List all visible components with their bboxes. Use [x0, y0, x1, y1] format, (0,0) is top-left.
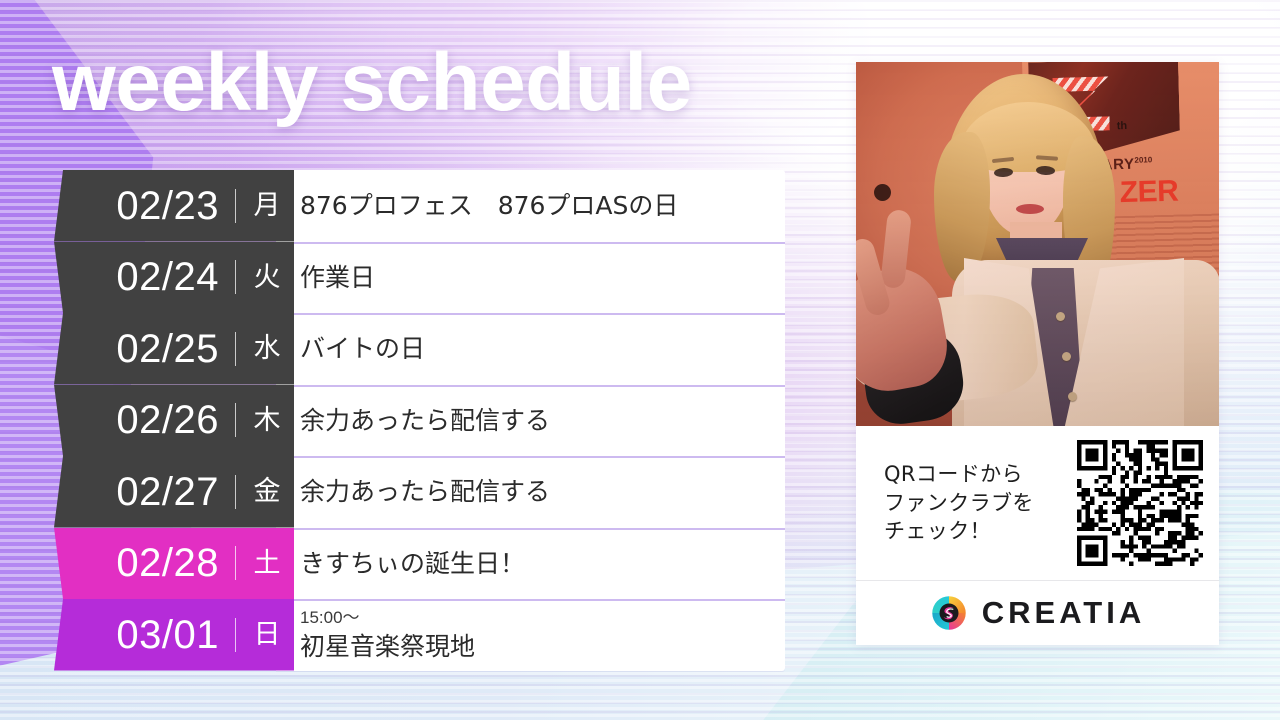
- schedule-row-content: 作業日: [300, 242, 785, 314]
- schedule-row: 02/27金余力あったら配信する: [54, 456, 785, 528]
- cosplay-photo: th NNIVERSARY2010 y sick ZER: [856, 62, 1219, 426]
- schedule-row-content: きすちぃの誕生日！: [300, 528, 785, 600]
- photo-color-tint: [856, 62, 1219, 426]
- brand-block: CREATIA: [856, 581, 1219, 645]
- schedule-date: 02/23: [116, 186, 219, 226]
- qr-promo-line-1: QRコードから: [884, 460, 1077, 489]
- schedule-row-content: バイトの日: [300, 313, 785, 385]
- schedule-row-content: 余力あったら配信する: [300, 456, 785, 528]
- schedule-date-chip: 02/26木: [54, 385, 294, 457]
- schedule-date-chip: 03/01日: [54, 599, 294, 671]
- qr-promo-text: QRコードから ファンクラブを チェック！: [884, 460, 1077, 547]
- qr-promo-line-2: ファンクラブを: [884, 489, 1077, 518]
- schedule-entry-text: 作業日: [300, 262, 785, 293]
- schedule-weekday: 金: [250, 478, 284, 505]
- schedule-row-content: 876プロフェス 876プロASの日: [300, 170, 785, 242]
- schedule-entry-text: 初星音楽祭現地: [300, 631, 785, 662]
- schedule-date-separator: [235, 403, 236, 437]
- schedule-weekday: 木: [250, 407, 284, 434]
- schedule-row: 03/01日15:00〜初星音楽祭現地: [54, 599, 785, 671]
- schedule-entry-text: 876プロフェス 876プロASの日: [300, 190, 785, 221]
- schedule-row: 02/23月876プロフェス 876プロASの日: [54, 170, 785, 242]
- schedule-date-chip: 02/25水: [54, 313, 294, 385]
- qr-promo-line-3: チェック！: [884, 517, 1077, 546]
- creatia-logo-icon: [930, 594, 968, 632]
- schedule-date-chip: 02/24火: [54, 242, 294, 314]
- schedule-date-separator: [235, 475, 236, 509]
- schedule-row-content: 余力あったら配信する: [300, 385, 785, 457]
- schedule-date-separator: [235, 618, 236, 652]
- schedule-weekday: 水: [250, 335, 284, 362]
- schedule-date: 02/25: [116, 329, 219, 369]
- schedule-weekday: 日: [250, 621, 284, 648]
- schedule-date-separator: [235, 260, 236, 294]
- schedule-weekday: 土: [250, 550, 284, 577]
- schedule-date: 02/24: [116, 257, 219, 297]
- schedule-date-chip: 02/23月: [54, 170, 294, 242]
- schedule-date-separator: [235, 546, 236, 580]
- schedule-row: 02/28土きすちぃの誕生日！: [54, 528, 785, 600]
- schedule-entry-text: きすちぃの誕生日！: [300, 548, 785, 579]
- schedule-entry-text: 余力あったら配信する: [300, 476, 785, 507]
- poster-canvas: weekly schedule 02/23月876プロフェス 876プロASの日…: [0, 0, 1280, 720]
- schedule-date-separator: [235, 189, 236, 223]
- schedule-weekday: 火: [250, 264, 284, 291]
- schedule-date: 03/01: [116, 615, 219, 655]
- schedule-weekday: 月: [250, 192, 284, 219]
- schedule-row: 02/24火作業日: [54, 242, 785, 314]
- brand-name: CREATIA: [982, 595, 1145, 631]
- schedule-date: 02/28: [116, 543, 219, 583]
- schedule-entry-text: バイトの日: [300, 333, 785, 364]
- schedule-row-content: 15:00〜初星音楽祭現地: [300, 599, 785, 671]
- qr-code[interactable]: [1077, 440, 1203, 566]
- schedule-date-separator: [235, 332, 236, 366]
- qr-promo-block: QRコードから ファンクラブを チェック！: [856, 426, 1219, 581]
- schedule-table: 02/23月876プロフェス 876プロASの日02/24火作業日02/25水バ…: [54, 170, 785, 671]
- schedule-row: 02/26木余力あったら配信する: [54, 385, 785, 457]
- schedule-date-chip: 02/28土: [54, 528, 294, 600]
- schedule-time: 15:00〜: [300, 607, 785, 629]
- page-title: weekly schedule: [52, 42, 692, 124]
- schedule-date: 02/27: [116, 472, 219, 512]
- schedule-date-chip: 02/27金: [54, 456, 294, 528]
- side-card: th NNIVERSARY2010 y sick ZER: [856, 62, 1219, 645]
- schedule-date: 02/26: [116, 400, 219, 440]
- schedule-entry-text: 余力あったら配信する: [300, 405, 785, 436]
- schedule-row: 02/25水バイトの日: [54, 313, 785, 385]
